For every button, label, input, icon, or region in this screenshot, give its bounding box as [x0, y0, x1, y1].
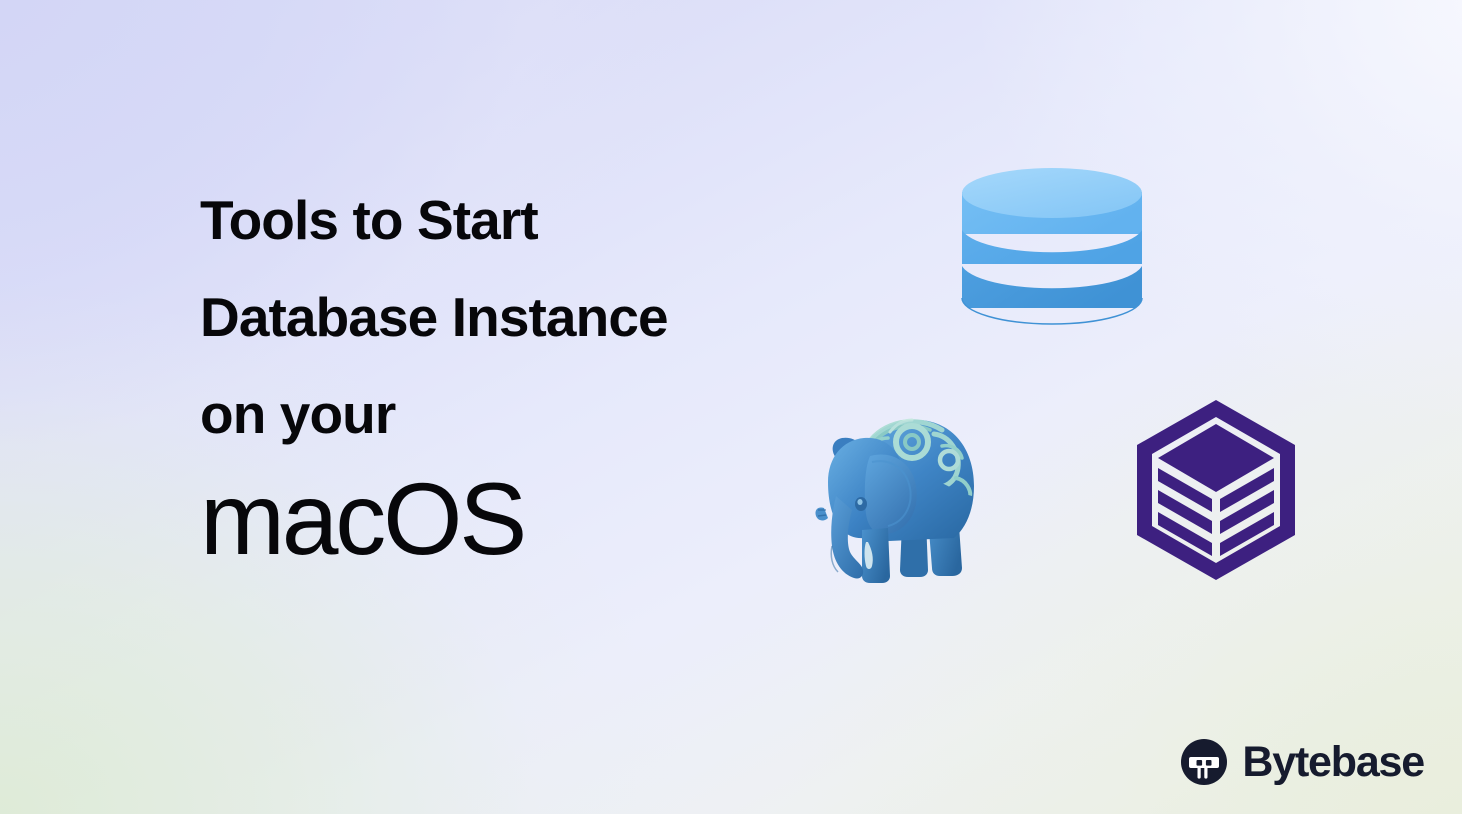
- page-title: Tools to Start Database Instance on your…: [200, 172, 900, 581]
- headline-line-3: on your: [200, 366, 900, 463]
- headline-line-2: Database Instance: [200, 269, 900, 366]
- brand-lockup: Bytebase: [1180, 738, 1424, 786]
- brand-name: Bytebase: [1242, 741, 1424, 784]
- postgres-elephant-icon: [806, 400, 990, 586]
- bytebase-logo-mark: [1180, 738, 1228, 786]
- headline-line-4: macOS: [200, 457, 900, 581]
- cover-canvas: Tools to Start Database Instance on your…: [0, 0, 1462, 814]
- database-cylinder-icon: [961, 168, 1143, 330]
- hexagon-cube-icon: [1133, 398, 1299, 582]
- headline-line-1: Tools to Start: [200, 172, 900, 269]
